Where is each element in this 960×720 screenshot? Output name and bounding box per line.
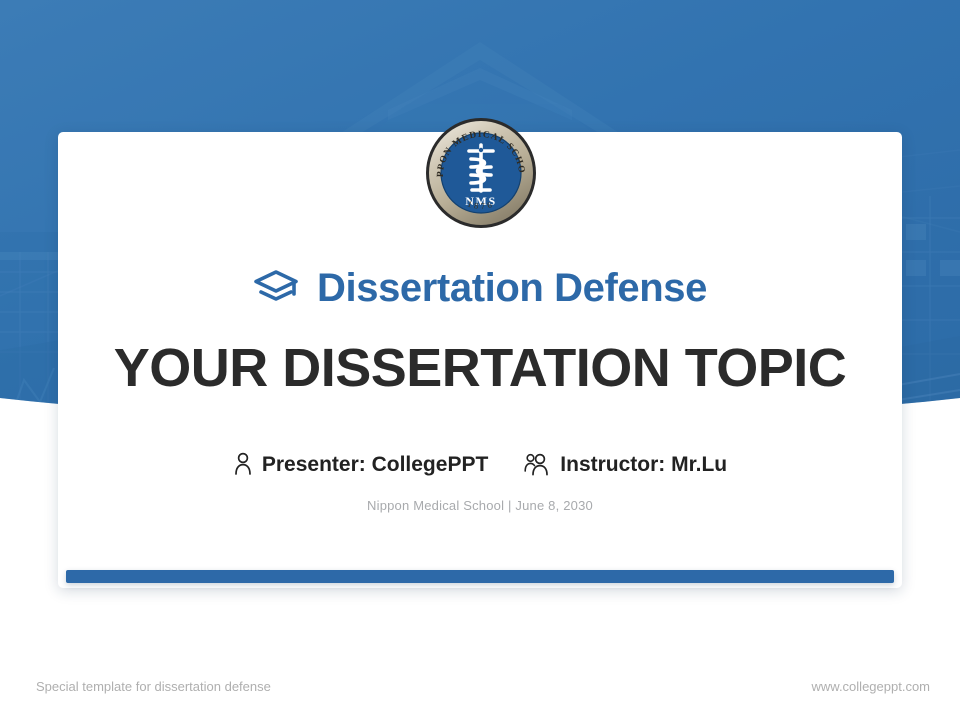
slide-title: YOUR DISSERTATION TOPIC <box>0 340 960 397</box>
nippon-medical-school-seal: NIPPON MEDICAL SCHOOL NMS 1876 <box>425 117 537 229</box>
kicker-label: Dissertation Defense <box>317 268 707 308</box>
seal-graphic: NIPPON MEDICAL SCHOOL NMS 1876 <box>425 117 537 229</box>
people-icon <box>524 452 551 476</box>
instructor-label: Instructor: Mr.Lu <box>560 454 727 475</box>
instructor-item: Instructor: Mr.Lu <box>524 452 727 476</box>
presenter-item: Presenter: CollegePPT <box>233 452 488 476</box>
footer-website[interactable]: www.collegeppt.com <box>812 679 931 694</box>
graduation-cap-icon <box>253 268 299 308</box>
footer-note: Special template for dissertation defens… <box>36 679 271 694</box>
presentation-slide: NIPPON MEDICAL SCHOOL NMS 1876 <box>0 0 960 720</box>
credits-row: Presenter: CollegePPT Instructor: Mr.Lu <box>0 452 960 476</box>
kicker-row: Dissertation Defense <box>0 268 960 308</box>
slide-meta: Nippon Medical School | June 8, 2030 <box>0 498 960 513</box>
presenter-label: Presenter: CollegePPT <box>262 454 488 475</box>
person-icon <box>233 452 253 476</box>
card-accent-bar <box>66 570 894 583</box>
